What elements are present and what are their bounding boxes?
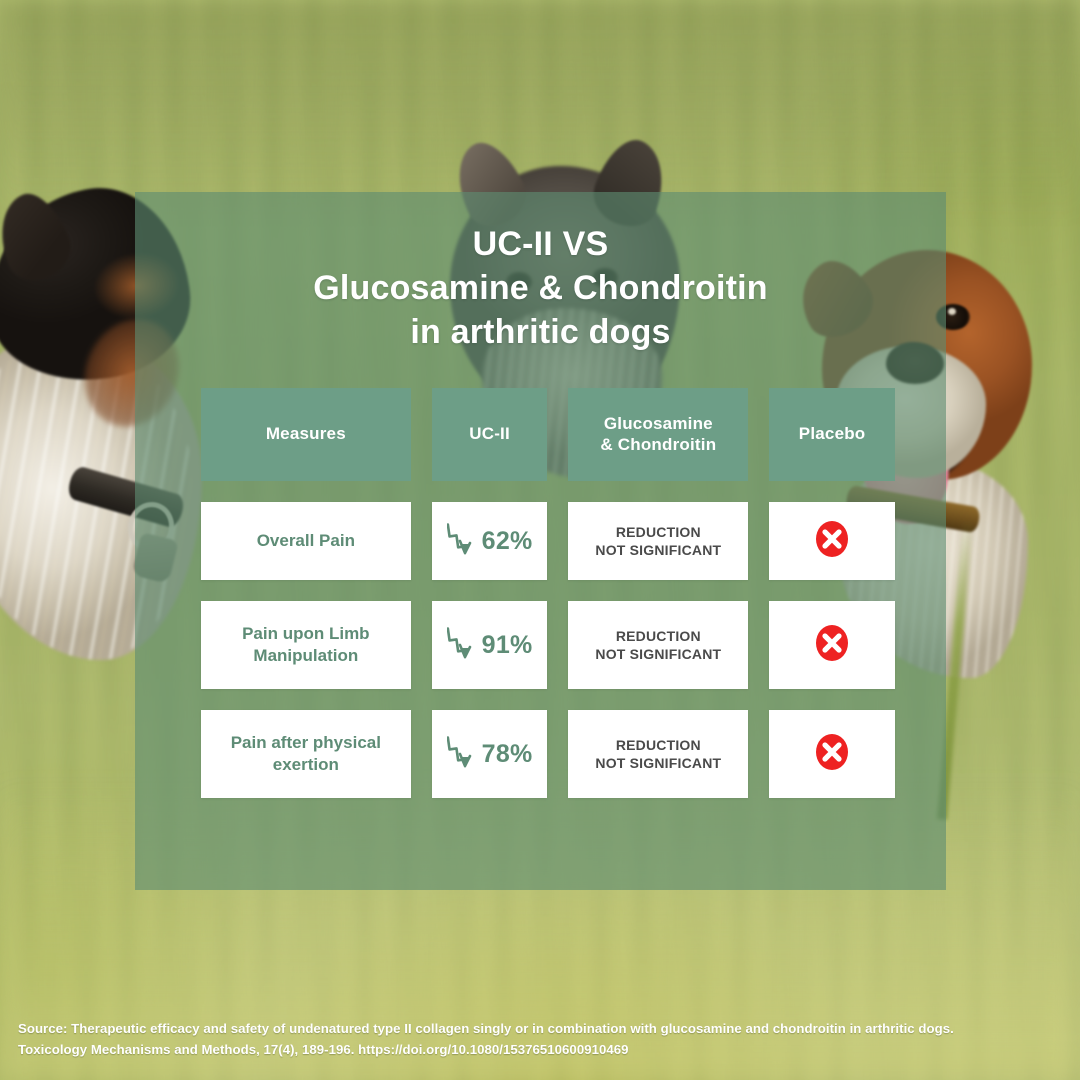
table-header-row: Measures UC-II Glucosamine & Chondroitin… bbox=[201, 388, 895, 481]
gluco-result-line-2: NOT SIGNIFICANT bbox=[595, 542, 721, 558]
gluco-result-line-1: REDUCTION bbox=[616, 524, 701, 540]
down-trend-arrow-icon bbox=[447, 623, 473, 668]
title-line-1: UC-II VS bbox=[135, 222, 946, 266]
ucii-percent-value: 78% bbox=[482, 740, 533, 769]
gluco-result-text: REDUCTION NOT SIGNIFICANT bbox=[595, 627, 721, 664]
down-trend-arrow-icon bbox=[447, 732, 473, 777]
header-glucosamine-chondroitin: Glucosamine & Chondroitin bbox=[568, 388, 748, 481]
cell-placebo bbox=[769, 710, 895, 798]
header-placebo-label: Placebo bbox=[799, 424, 866, 445]
header-measures: Measures bbox=[201, 388, 411, 481]
page-title: UC-II VS Glucosamine & Chondroitin in ar… bbox=[135, 222, 946, 355]
gluco-result-text: REDUCTION NOT SIGNIFICANT bbox=[595, 736, 721, 773]
measure-label: Overall Pain bbox=[247, 530, 365, 552]
cell-glucosamine: REDUCTION NOT SIGNIFICANT bbox=[568, 601, 748, 689]
measure-label: Pain upon Limb Manipulation bbox=[201, 623, 411, 667]
gluco-result-line-2: NOT SIGNIFICANT bbox=[595, 646, 721, 662]
gluco-result-line-2: NOT SIGNIFICANT bbox=[595, 755, 721, 771]
ucii-percent-value: 91% bbox=[482, 631, 533, 660]
comparison-table: Measures UC-II Glucosamine & Chondroitin… bbox=[201, 388, 895, 798]
ucii-percent-value: 62% bbox=[482, 527, 533, 556]
source-citation: Source: Therapeutic efficacy and safety … bbox=[18, 1018, 1018, 1061]
gluco-result-line-1: REDUCTION bbox=[616, 737, 701, 753]
header-measures-label: Measures bbox=[266, 424, 346, 445]
cell-ucii: 91% bbox=[432, 601, 548, 689]
cell-placebo bbox=[769, 601, 895, 689]
title-line-2: Glucosamine & Chondroitin bbox=[135, 266, 946, 310]
cell-glucosamine: REDUCTION NOT SIGNIFICANT bbox=[568, 502, 748, 580]
ucii-value-group: 78% bbox=[447, 732, 533, 777]
table-row: Overall Pain 62% REDUCTION bbox=[201, 502, 895, 580]
cell-ucii: 62% bbox=[432, 502, 548, 580]
header-placebo: Placebo bbox=[769, 388, 895, 481]
cell-placebo bbox=[769, 502, 895, 580]
header-ucii: UC-II bbox=[432, 388, 548, 481]
gluco-result-line-1: REDUCTION bbox=[616, 628, 701, 644]
header-gluco-label: Glucosamine & Chondroitin bbox=[600, 414, 716, 455]
right-dog-eye-glint bbox=[948, 308, 956, 315]
measure-label: Pain after physical exertion bbox=[201, 732, 411, 776]
down-trend-arrow-icon bbox=[447, 519, 473, 564]
red-x-circle-icon bbox=[814, 519, 850, 564]
title-line-3: in arthritic dogs bbox=[135, 310, 946, 354]
header-gluco-line-1: Glucosamine bbox=[604, 414, 713, 433]
red-x-circle-icon bbox=[814, 732, 850, 777]
ucii-value-group: 62% bbox=[447, 519, 533, 564]
source-line-1: Source: Therapeutic efficacy and safety … bbox=[18, 1021, 846, 1036]
infographic-canvas: UC-II VS Glucosamine & Chondroitin in ar… bbox=[0, 0, 1080, 1080]
cell-measure: Pain after physical exertion bbox=[201, 710, 411, 798]
ucii-value-group: 91% bbox=[447, 623, 533, 668]
cell-measure: Overall Pain bbox=[201, 502, 411, 580]
red-x-circle-icon bbox=[814, 623, 850, 668]
header-gluco-line-2: & Chondroitin bbox=[600, 435, 716, 454]
header-ucii-label: UC-II bbox=[469, 424, 510, 445]
cell-ucii: 78% bbox=[432, 710, 548, 798]
cell-glucosamine: REDUCTION NOT SIGNIFICANT bbox=[568, 710, 748, 798]
cell-measure: Pain upon Limb Manipulation bbox=[201, 601, 411, 689]
table-row: Pain upon Limb Manipulation 91% bbox=[201, 601, 895, 689]
table-row: Pain after physical exertion 78% bbox=[201, 710, 895, 798]
gluco-result-text: REDUCTION NOT SIGNIFICANT bbox=[595, 523, 721, 560]
